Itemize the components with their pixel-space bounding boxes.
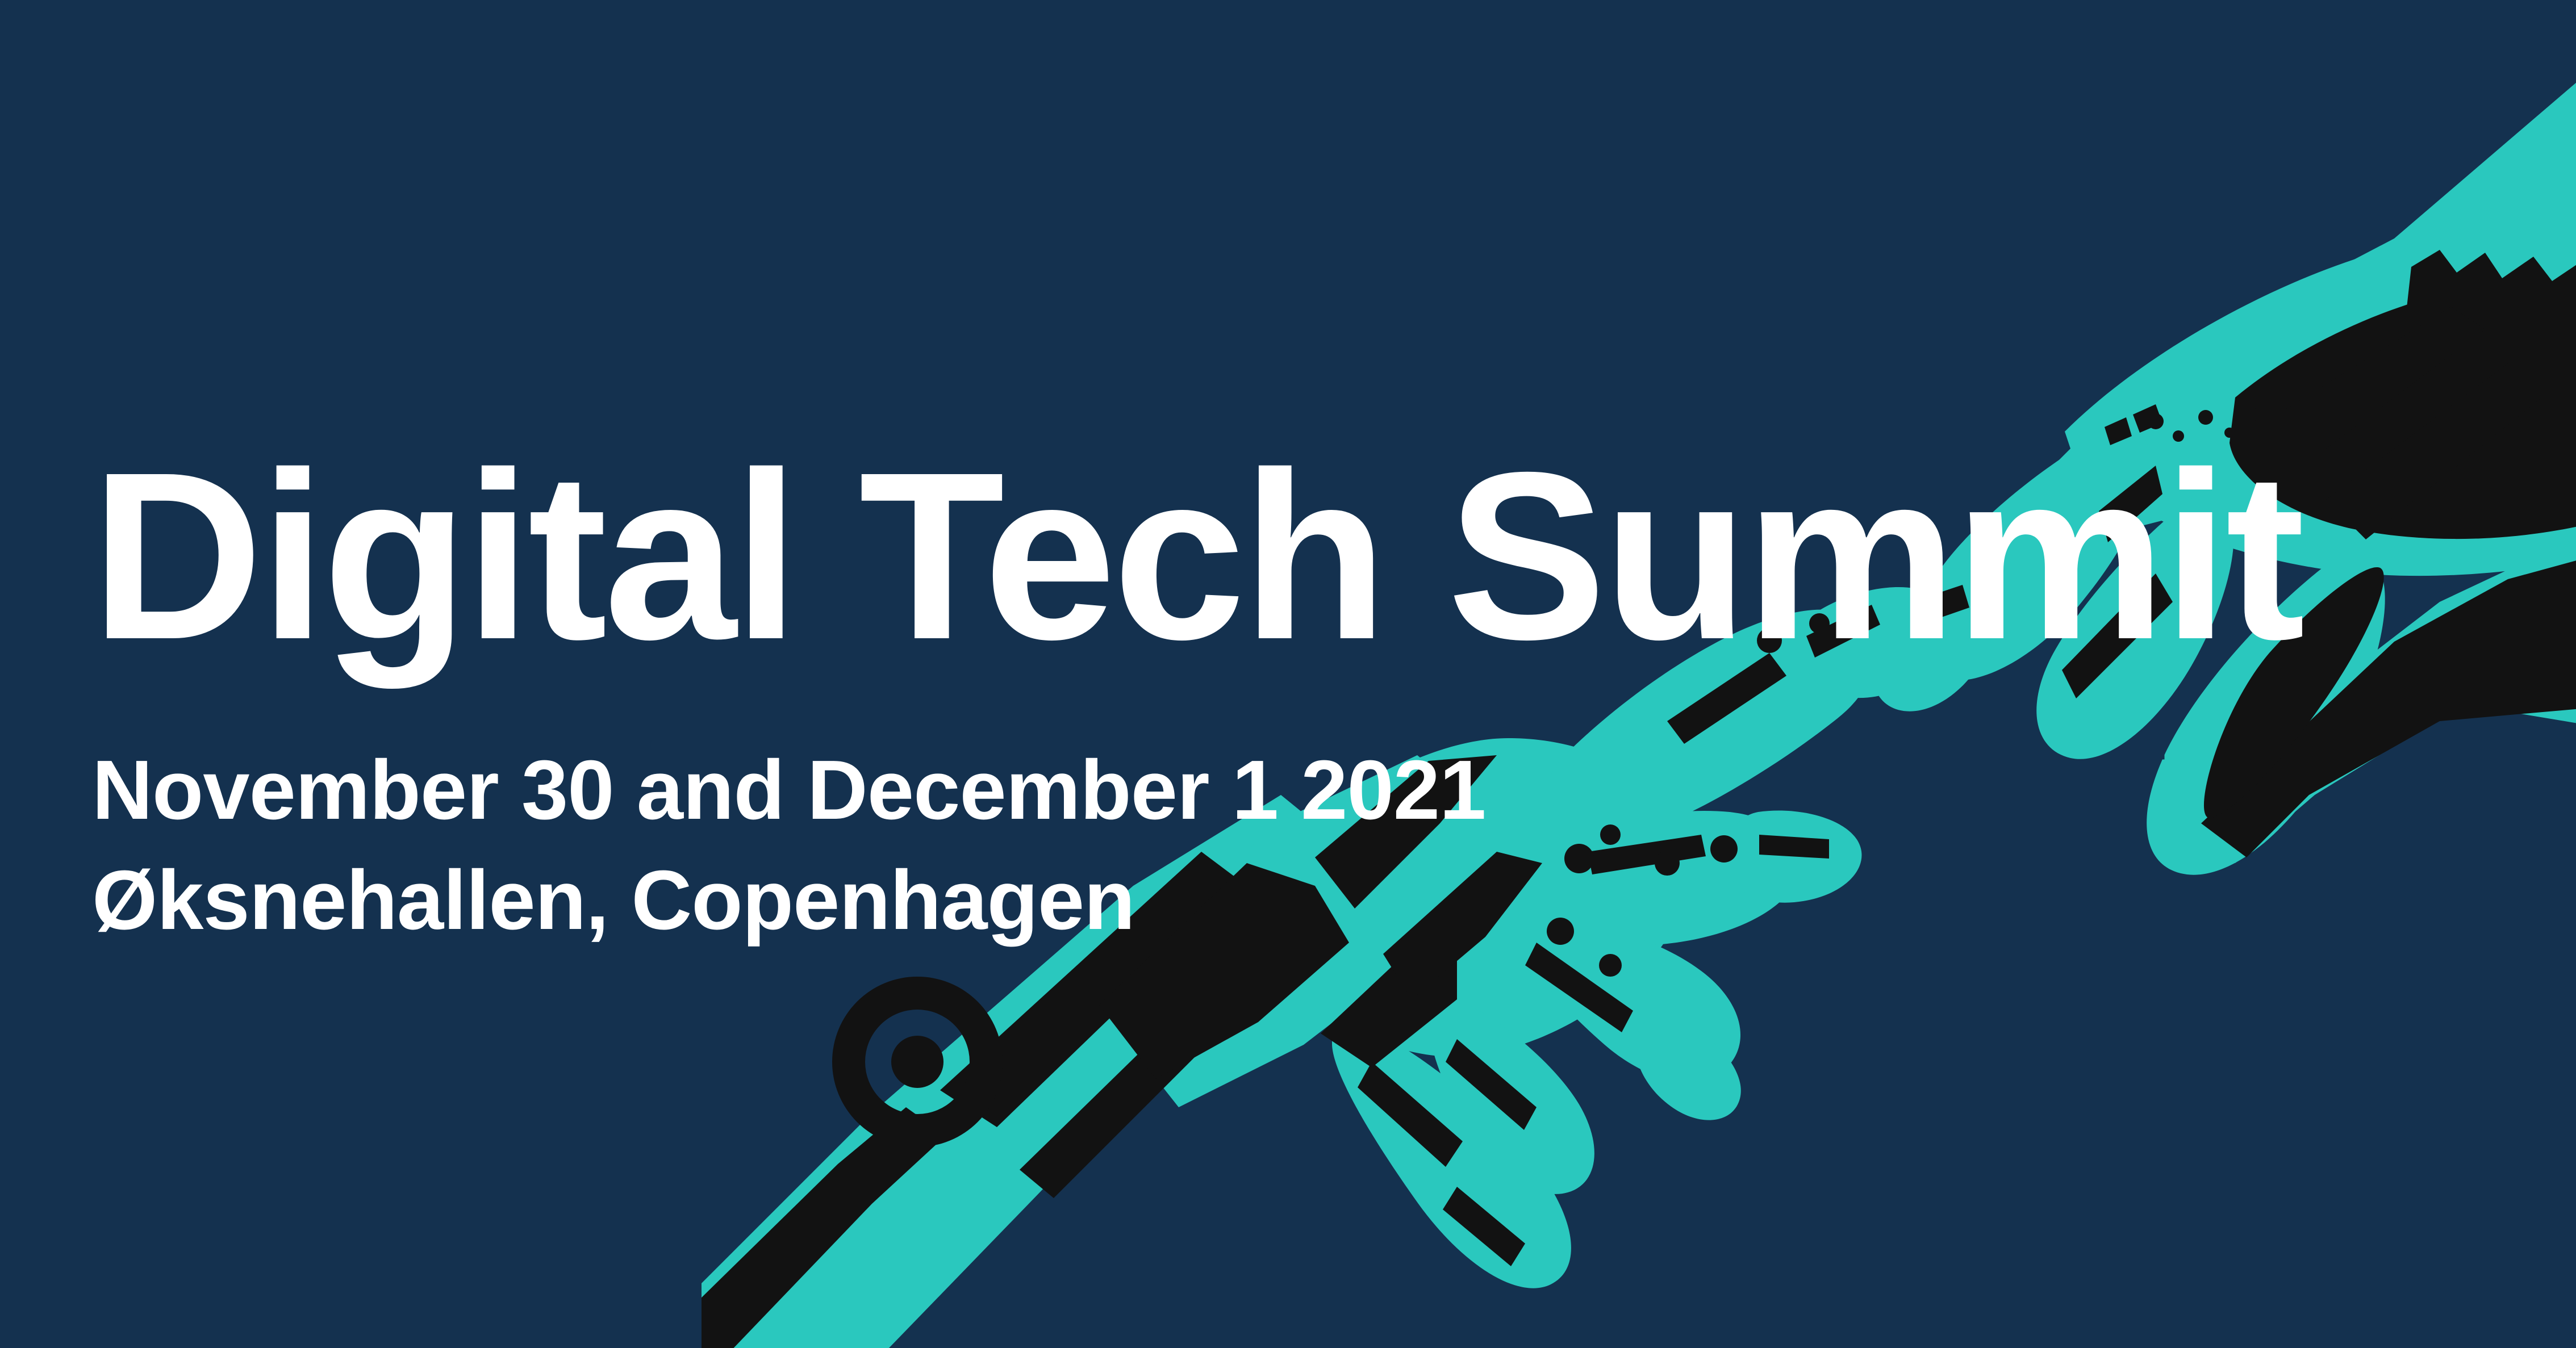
- page-title: Digital Tech Summit: [91, 437, 2302, 676]
- event-banner: Digital Tech Summit November 30 and Dece…: [0, 0, 2576, 1348]
- event-dates: November 30 and December 1 2021: [92, 748, 1485, 832]
- event-venue: Øksnehallen, Copenhagen: [92, 859, 1135, 943]
